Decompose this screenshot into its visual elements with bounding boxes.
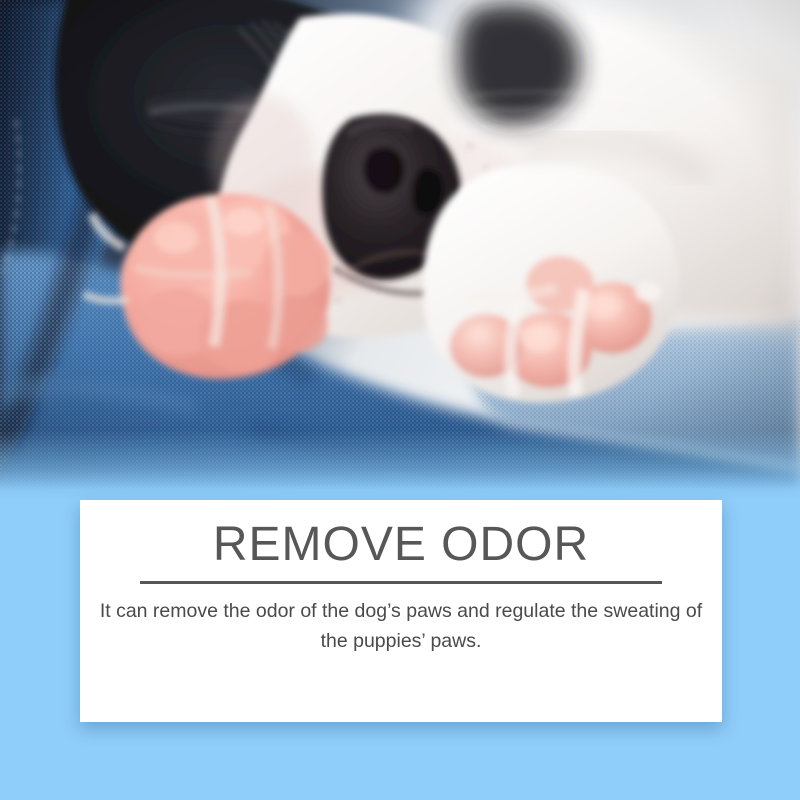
hero-photo (0, 0, 800, 500)
card-description: It can remove the odor of the dog’s paws… (98, 596, 704, 656)
card-title: REMOVE ODOR (80, 517, 722, 573)
title-divider (140, 581, 662, 584)
puppy-photo-illustration (0, 0, 800, 500)
product-feature-banner: REMOVE ODOR It can remove the odor of th… (0, 0, 800, 800)
feature-card: REMOVE ODOR It can remove the odor of th… (80, 500, 722, 722)
